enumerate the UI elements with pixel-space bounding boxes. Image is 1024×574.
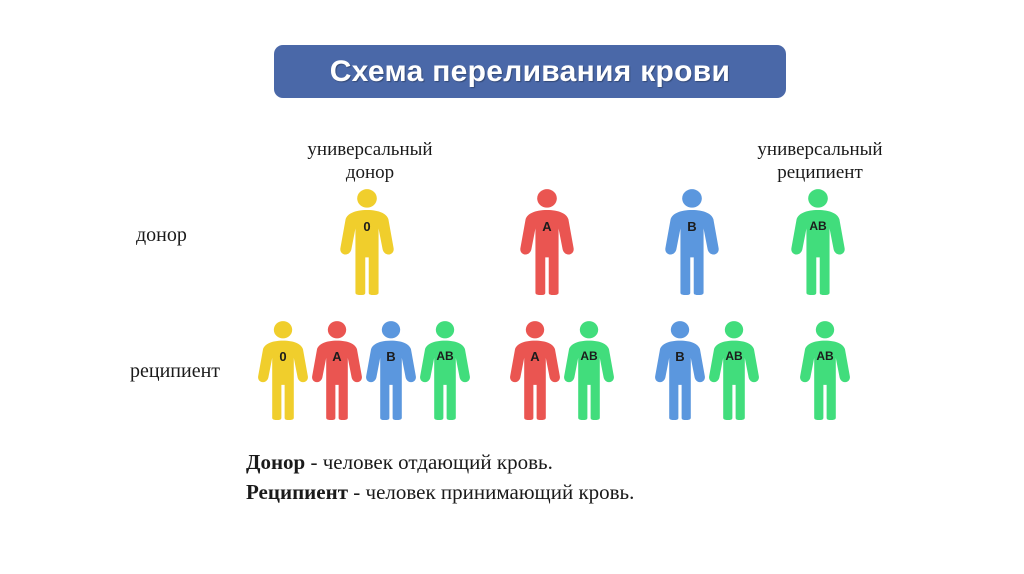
page-title: Схема переливания крови bbox=[330, 55, 731, 89]
universal-recipient-line-1: универсальный bbox=[712, 138, 928, 161]
blood-group-label: B bbox=[653, 350, 707, 363]
blood-group-label: 0 bbox=[256, 350, 310, 363]
person-figure-ab-recipient: AB bbox=[562, 320, 616, 420]
person-figure-a-donor: A bbox=[518, 188, 576, 295]
blood-group-label: AB bbox=[418, 350, 472, 362]
blood-group-label: AB bbox=[789, 220, 847, 232]
footer-legend: Донор - человек отдающий кровь. Реципиен… bbox=[246, 448, 634, 508]
blood-group-label: 0 bbox=[338, 220, 396, 233]
person-figure-ab-donor: AB bbox=[789, 188, 847, 295]
footer-term-recipient: Реципиент bbox=[246, 480, 348, 504]
footer-text-donor: - человек отдающий кровь. bbox=[305, 450, 553, 474]
blood-group-label: AB bbox=[798, 350, 852, 362]
footer-text-recipient: - человек принимающий кровь. bbox=[348, 480, 634, 504]
universal-recipient-annotation: универсальный реципиент bbox=[712, 138, 928, 184]
row-label-donor: донор bbox=[136, 224, 187, 247]
blood-group-label: A bbox=[508, 350, 562, 363]
person-figure-a-recipient: A bbox=[508, 320, 562, 420]
blood-group-label: B bbox=[663, 220, 721, 233]
person-figure-b-recipient: B bbox=[653, 320, 707, 420]
person-figure-b-donor: B bbox=[663, 188, 721, 295]
diagram-title-banner: Схема переливания крови bbox=[274, 45, 786, 98]
blood-group-label: B bbox=[364, 350, 418, 363]
footer-line-donor: Донор - человек отдающий кровь. bbox=[246, 448, 634, 478]
person-figure-0-donor: 0 bbox=[338, 188, 396, 295]
blood-transfusion-diagram: Схема переливания крови универсальный до… bbox=[0, 0, 1024, 574]
blood-group-label: AB bbox=[707, 350, 761, 362]
universal-donor-line-2: донор bbox=[262, 161, 478, 184]
footer-line-recipient: Реципиент - человек принимающий кровь. bbox=[246, 478, 634, 508]
universal-recipient-line-2: реципиент bbox=[712, 161, 928, 184]
universal-donor-line-1: универсальный bbox=[262, 138, 478, 161]
blood-group-label: A bbox=[518, 220, 576, 233]
person-figure-b-recipient: B bbox=[364, 320, 418, 420]
person-figure-0-recipient: 0 bbox=[256, 320, 310, 420]
universal-donor-annotation: универсальный донор bbox=[262, 138, 478, 184]
blood-group-label: A bbox=[310, 350, 364, 363]
person-figure-ab-recipient: AB bbox=[707, 320, 761, 420]
person-figure-a-recipient: A bbox=[310, 320, 364, 420]
blood-group-label: AB bbox=[562, 350, 616, 362]
footer-term-donor: Донор bbox=[246, 450, 305, 474]
row-label-recipient: реципиент bbox=[130, 360, 220, 383]
person-figure-ab-recipient: AB bbox=[418, 320, 472, 420]
person-figure-ab-recipient: AB bbox=[798, 320, 852, 420]
